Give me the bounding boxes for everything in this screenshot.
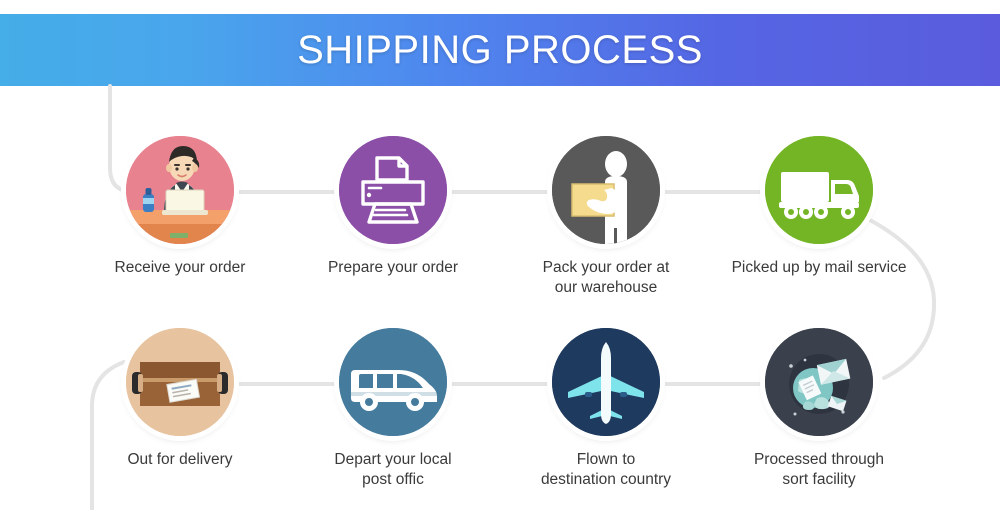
- step-8-processed-through-sort-facility[interactable]: Processed through sort facility: [719, 328, 919, 490]
- step-8-icon-wrap: [765, 328, 873, 436]
- step-1-circle: [126, 136, 234, 244]
- cardboard-package-icon: [126, 328, 234, 436]
- step-2-icon-wrap: [339, 136, 447, 244]
- step-3-icon-wrap: [552, 136, 660, 244]
- step-8-circle: [765, 328, 873, 436]
- step-6-icon-wrap: [339, 328, 447, 436]
- step-6-depart-your-local-post-office[interactable]: Depart your local post offic: [293, 328, 493, 490]
- step-7-circle: [552, 328, 660, 436]
- step-1-label: Receive your order: [80, 258, 280, 278]
- step-6-circle: [339, 328, 447, 436]
- header-banner: SHIPPING PROCESS: [0, 14, 1000, 86]
- step-5-circle: [126, 328, 234, 436]
- step-3-label: Pack your order at our warehouse: [506, 258, 706, 298]
- shipping-process-infographic: SHIPPING PROCESS: [0, 0, 1000, 510]
- delivery-van-icon: [339, 328, 447, 436]
- globe-with-mail-icon: [765, 328, 873, 436]
- step-1-receive-your-order[interactable]: Receive your order: [80, 136, 280, 278]
- step-2-prepare-your-order[interactable]: Prepare your order: [293, 136, 493, 278]
- step-4-label: Picked up by mail service: [719, 258, 919, 278]
- step-5-label: Out for delivery: [80, 450, 280, 470]
- page-title: SHIPPING PROCESS: [297, 28, 703, 73]
- step-1-icon-wrap: [126, 136, 234, 244]
- step-8-label: Processed through sort facility: [719, 450, 919, 490]
- printer-icon: [339, 136, 447, 244]
- step-3-circle: [552, 136, 660, 244]
- step-4-icon-wrap: [765, 136, 873, 244]
- step-7-flown-to-destination-country[interactable]: Flown to destination country: [506, 328, 706, 490]
- worker-carrying-box-icon: [552, 136, 660, 244]
- airplane-icon: [552, 328, 660, 436]
- delivery-truck-icon: [765, 136, 873, 244]
- step-2-circle: [339, 136, 447, 244]
- step-3-pack-your-order[interactable]: Pack your order at our warehouse: [506, 136, 706, 298]
- person-at-desk-icon: [126, 136, 234, 244]
- step-4-picked-up-by-mail-service[interactable]: Picked up by mail service: [719, 136, 919, 278]
- step-2-label: Prepare your order: [293, 258, 493, 278]
- step-7-icon-wrap: [552, 328, 660, 436]
- step-5-out-for-delivery[interactable]: Out for delivery: [80, 328, 280, 470]
- step-7-label: Flown to destination country: [506, 450, 706, 490]
- step-5-icon-wrap: [126, 328, 234, 436]
- step-6-label: Depart your local post offic: [293, 450, 493, 490]
- step-4-circle: [765, 136, 873, 244]
